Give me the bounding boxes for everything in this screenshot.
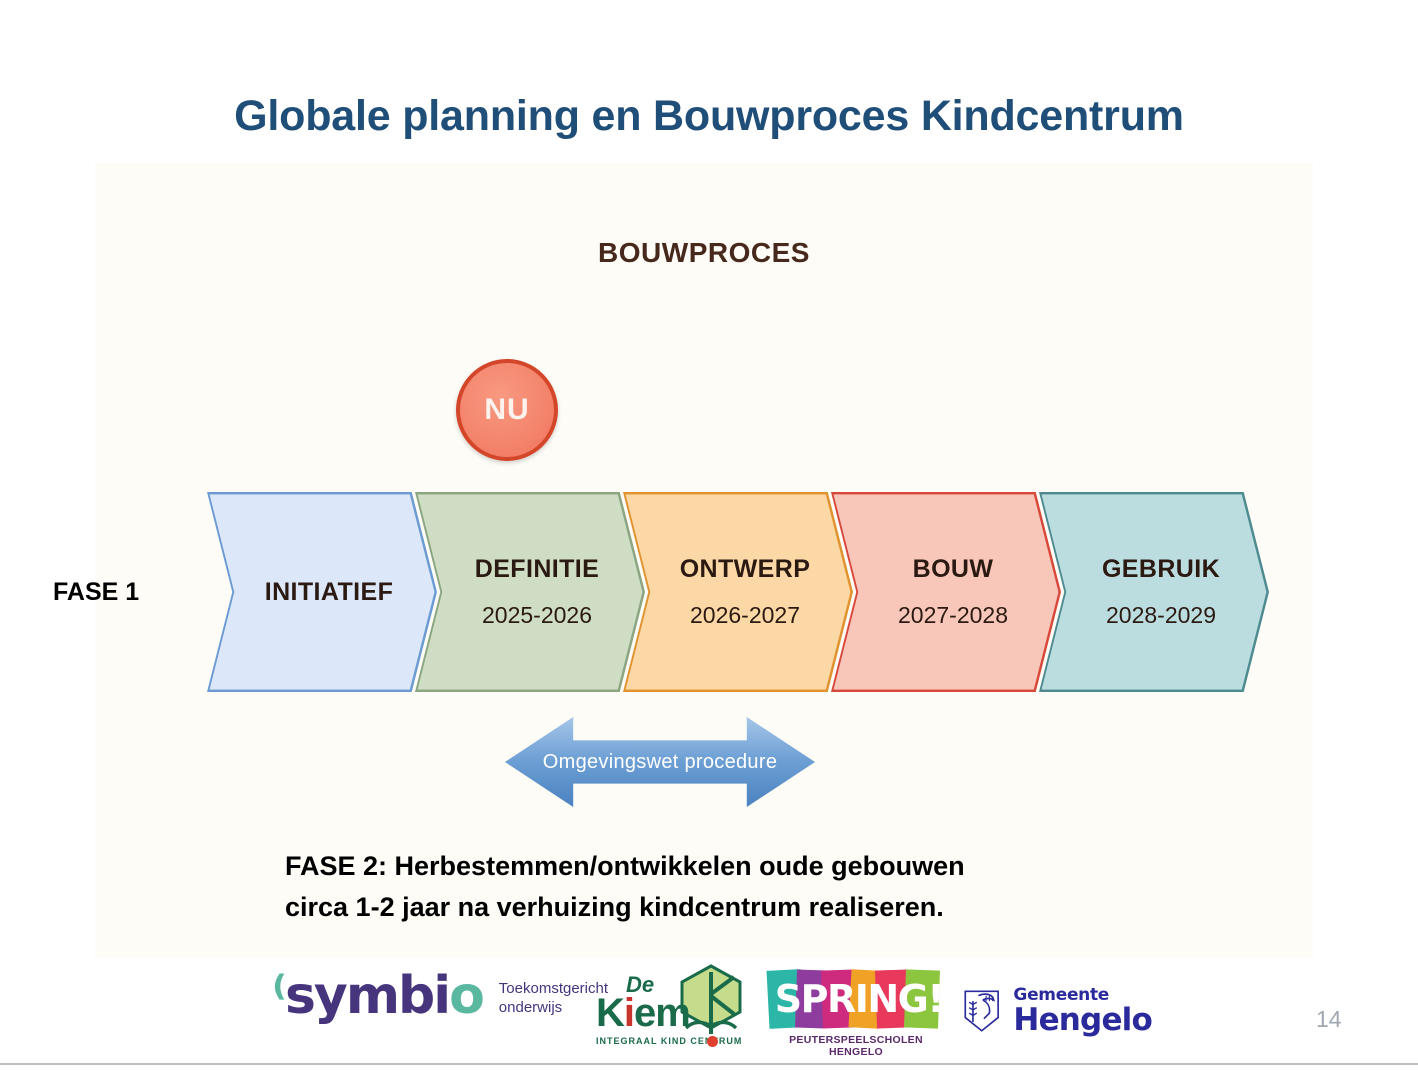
now-marker-label: NU	[484, 393, 529, 427]
chevron-shape	[418, 494, 643, 690]
kiem-main-text: Kiem	[596, 991, 690, 1036]
phase-name: BOUW	[913, 555, 994, 584]
phase-chevron-definitie[interactable]: DEFINITIE 2025-2026	[415, 492, 645, 692]
omgevingswet-label: Omgevingswet procedure	[543, 751, 778, 774]
fase2-note-line1: FASE 2: Herbestemmen/ontwikkelen oude ge…	[285, 846, 965, 887]
phase-chevron-initiatief[interactable]: INITIATIEF	[207, 492, 437, 692]
phase-chevron-gebruik[interactable]: GEBRUIK 2028-2029	[1039, 492, 1269, 692]
hengelo-wordmark: Gemeente Hengelo	[1013, 985, 1152, 1038]
diagram-heading: BOUWPROCES	[95, 237, 1313, 269]
bottom-divider	[0, 1063, 1418, 1065]
diagram-canvas: BOUWPROCES NU INITIATIEF DEFINITIE 2025-…	[95, 163, 1313, 958]
omgevingswet-span-arrow: Omgevingswet procedure	[505, 717, 815, 807]
phase-years: 2028-2029	[1106, 602, 1216, 629]
phase-name: GEBRUIK	[1102, 555, 1220, 584]
phase-chevron-row: INITIATIEF DEFINITIE 2025-2026 ONTWERP 2…	[95, 492, 1313, 694]
phase-name: DEFINITIE	[475, 555, 599, 584]
spring-tagline: PEUTERSPEELSCHOLEN HENGELO	[768, 1034, 944, 1058]
phase-name: ONTWERP	[680, 555, 811, 584]
kiem-tagline: INTEGRAAL KIND CENTRUM	[596, 1036, 742, 1046]
phase-chevron-bouw[interactable]: BOUW 2027-2028	[831, 492, 1061, 692]
phase-years: 2027-2028	[898, 602, 1008, 629]
logo-symbio: ⁽symbio Toekomstgericht onderwijs	[272, 970, 608, 1022]
spring-color-blocks: SPRING!	[768, 970, 944, 1028]
logo-gemeente-hengelo: Gemeente Hengelo	[962, 962, 1152, 1060]
logo-de-kiem: De Kiem INTEGRAAL KIND CENTRUM	[592, 964, 744, 1060]
phase-name: INITIATIEF	[265, 578, 394, 607]
fase2-note-line2: circa 1-2 jaar na verhuizing kindcentrum…	[285, 887, 965, 928]
chevron-shape	[1042, 494, 1267, 690]
chevron-shape	[626, 494, 851, 690]
hengelo-crest-icon	[962, 969, 1001, 1053]
spring-wordmark: SPRING!	[774, 977, 944, 1021]
logo-strip: ⁽symbio Toekomstgericht onderwijs De Kie…	[0, 958, 1418, 1064]
page-title: Globale planning en Bouwproces Kindcentr…	[0, 92, 1418, 141]
kiem-dot-icon	[707, 1036, 718, 1047]
phase-years: 2025-2026	[482, 602, 592, 629]
logo-spring: SPRING! PEUTERSPEELSCHOLEN HENGELO	[768, 970, 944, 1056]
fase1-label: FASE 1	[53, 578, 139, 607]
chevron-shape	[834, 494, 1059, 690]
symbio-wordmark: ⁽symbio	[272, 970, 483, 1022]
page-number: 14	[1316, 1006, 1342, 1033]
fase2-note: FASE 2: Herbestemmen/ontwikkelen oude ge…	[285, 846, 965, 928]
phase-years: 2026-2027	[690, 602, 800, 629]
now-marker: NU	[456, 359, 558, 461]
phase-chevron-ontwerp[interactable]: ONTWERP 2026-2027	[623, 492, 853, 692]
hengelo-line2: Hengelo	[1013, 1002, 1152, 1038]
